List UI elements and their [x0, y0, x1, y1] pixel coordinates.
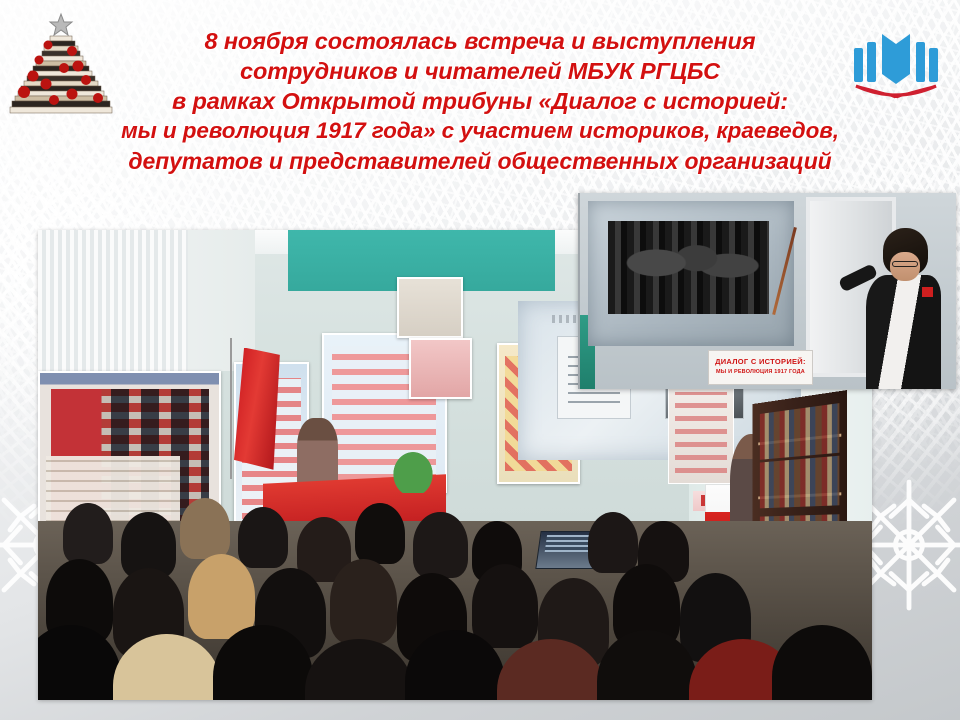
- presenter-with-pointer-photo: ДИАЛОГ С ИСТОРИЕЙ: МЫ И РЕВОЛЮЦИЯ 1917 Г…: [578, 193, 956, 389]
- audience-member: [180, 498, 230, 559]
- event-sign: ДИАЛОГ С ИСТОРИЕЙ: МЫ И РЕВОЛЮЦИЯ 1917 Г…: [708, 350, 813, 385]
- audience-member: [355, 503, 405, 564]
- audience-member: [472, 564, 539, 649]
- title-line-3: в рамках Открытой трибуны «Диалог с исто…: [40, 86, 920, 116]
- information-poster: [409, 338, 472, 399]
- audience-member: [238, 507, 288, 568]
- bookcase-books: [759, 456, 839, 508]
- right-wall-poster: [668, 380, 735, 483]
- audience-member: [330, 559, 397, 644]
- event-sign-line-2: МЫ И РЕВОЛЮЦИЯ 1917 ГОДА: [709, 369, 812, 375]
- title-line-5: депутатов и представителей общественных …: [40, 146, 920, 176]
- title-line-2: сотрудников и читателей МБУК РГЦБС: [40, 56, 920, 86]
- inset-archival-group-photo: [608, 221, 769, 314]
- audience-member: [588, 512, 638, 573]
- inset-presenter-badge: [922, 287, 933, 297]
- flag-pole: [230, 338, 232, 479]
- title-line-4: мы и революция 1917 года» с участием ист…: [40, 116, 920, 146]
- potted-plant: [388, 446, 438, 493]
- title-line-1: 8 ноября состоялась встреча и выступлени…: [40, 26, 920, 56]
- audience-member: [413, 512, 467, 578]
- inset-presenter-glasses-icon: [892, 261, 918, 268]
- slide-canvas: 8 ноября состоялась встреча и выступлени…: [0, 0, 960, 720]
- event-sign-line-1: ДИАЛОГ С ИСТОРИЕЙ:: [709, 357, 812, 366]
- audience-member: [188, 554, 255, 639]
- inset-projection-screen: [588, 201, 795, 346]
- audience-member: [63, 503, 113, 564]
- presidium-member: [297, 418, 339, 489]
- slide-title: 8 ноября состоялась встреча и выступлени…: [40, 26, 920, 176]
- window-blinds: [38, 230, 188, 371]
- bookcase-books: [759, 403, 839, 459]
- information-poster: [397, 277, 464, 338]
